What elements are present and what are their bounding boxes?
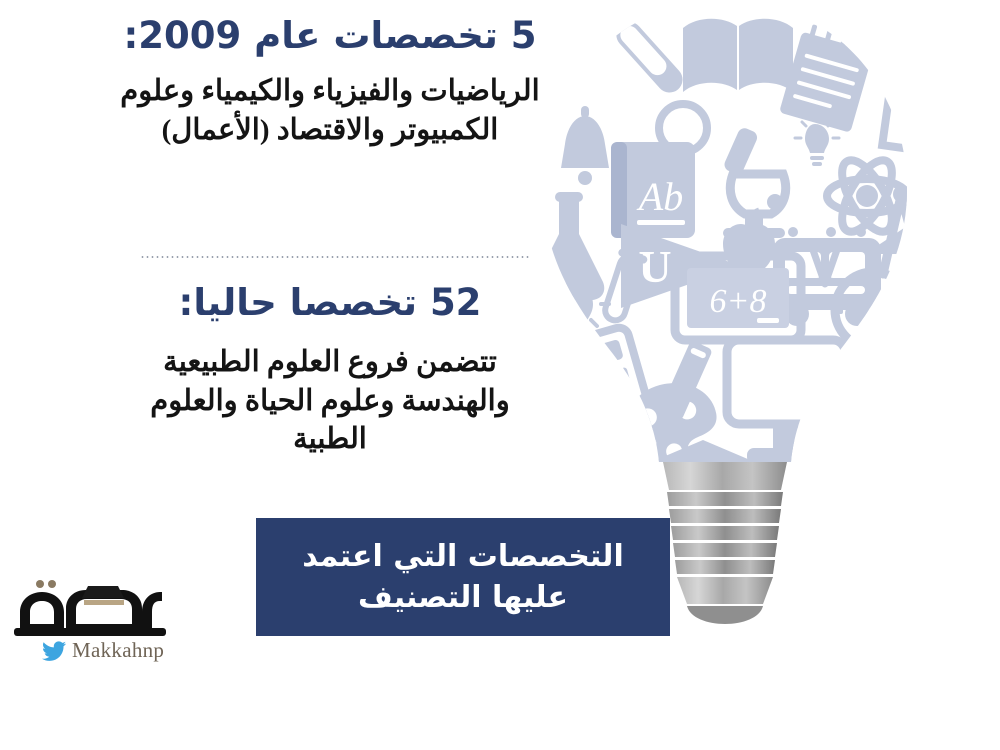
ruler-icon bbox=[865, 299, 935, 427]
dotted-divider bbox=[140, 256, 530, 258]
section-current-body: تتضمن فروع العلوم الطبيعية والهندسة وعلو… bbox=[95, 343, 565, 458]
bulb-base-icon bbox=[663, 462, 787, 624]
notepad-icon bbox=[779, 22, 876, 133]
abc-book-icon: Ab bbox=[611, 142, 695, 238]
magnifier-icon bbox=[638, 104, 707, 173]
section-2009-heading: 5 تخصصات عام 2009: bbox=[95, 14, 565, 58]
apple-icon bbox=[723, 210, 775, 272]
monitor-icon bbox=[727, 340, 845, 464]
makkah-logo: Makkahnp bbox=[14, 578, 184, 670]
svg-text:Ab: Ab bbox=[636, 174, 683, 219]
atom-icon bbox=[827, 153, 907, 239]
microscope-icon bbox=[722, 126, 785, 238]
palette-icon bbox=[619, 376, 725, 477]
test-tube-icon bbox=[603, 8, 693, 102]
school-bus-icon bbox=[773, 227, 881, 326]
svg-text:U: U bbox=[638, 241, 671, 292]
pens-pair-icon bbox=[781, 439, 839, 571]
section-2009: 5 تخصصات عام 2009: الرياضيات والفيزياء و… bbox=[95, 14, 565, 149]
title-banner: التخصصات التي اعتمد عليها التصنيف bbox=[256, 518, 670, 636]
compass-icon bbox=[883, 185, 923, 274]
bell-icon bbox=[561, 106, 609, 185]
museum-icon bbox=[863, 226, 935, 331]
twitter-bird-icon bbox=[42, 641, 66, 661]
section-current-heading: 52 تخصصا حاليا: bbox=[95, 281, 565, 325]
pennant-u-icon: U bbox=[621, 224, 741, 308]
chalkboard-icon: 6+8 bbox=[675, 256, 801, 340]
bell-small-icon bbox=[907, 266, 935, 327]
open-book-icon bbox=[683, 19, 793, 92]
checkmark-icon bbox=[813, 244, 839, 284]
infographic-canvas: Ab bbox=[0, 0, 1000, 750]
lightbulb-small-icon bbox=[795, 112, 839, 166]
banner-line-1: التخصصات التي اعتمد bbox=[302, 536, 623, 577]
pencil-icon bbox=[651, 340, 713, 439]
globe-icon bbox=[843, 452, 927, 564]
banner-line-2: عليها التصنيف bbox=[358, 577, 568, 618]
apple-large-icon bbox=[859, 358, 933, 442]
twitter-handle-text: Makkahnp bbox=[72, 638, 164, 663]
lightbulb-tiny-icon bbox=[810, 551, 848, 592]
svg-text:6+8: 6+8 bbox=[710, 283, 767, 320]
triangle-ruler-icon bbox=[882, 54, 935, 153]
section-2009-body: الرياضيات والفيزياء والكيمياء وعلوم الكم… bbox=[95, 72, 565, 149]
magnifier-large-icon bbox=[870, 425, 935, 521]
twitter-handle[interactable]: Makkahnp bbox=[14, 638, 184, 663]
clock-icon bbox=[835, 272, 911, 348]
test-tube-small-icon bbox=[598, 248, 648, 325]
makkah-wordmark-icon bbox=[14, 578, 166, 636]
section-current: 52 تخصصا حاليا: تتضمن فروع العلوم الطبيع… bbox=[95, 281, 565, 458]
